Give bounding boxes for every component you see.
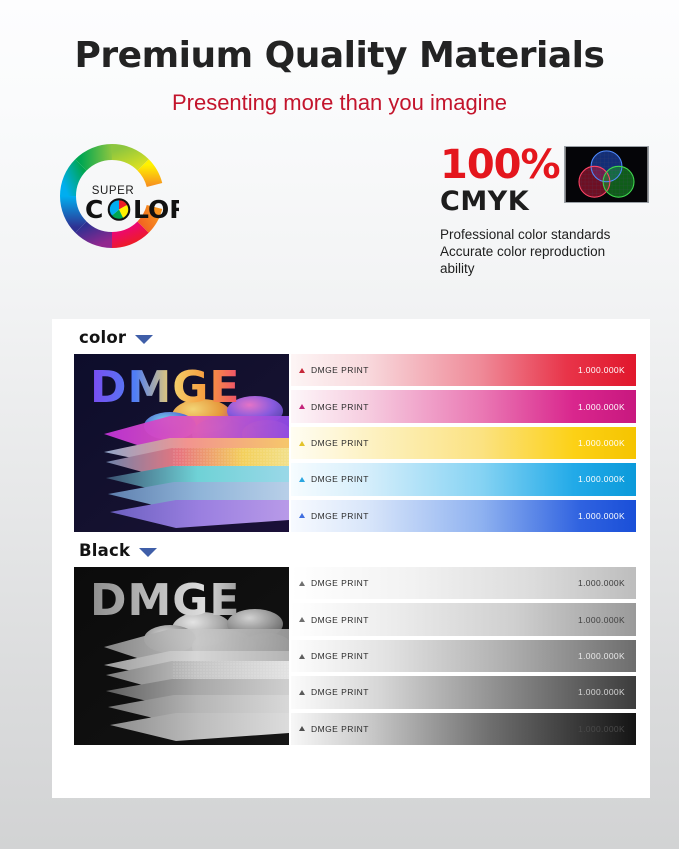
bar-label: DMGE PRINT [311, 578, 369, 588]
svg-text:LOR: LOR [133, 195, 179, 224]
bar-value: 1.000.000K [578, 365, 625, 375]
black-bar-list: DMGE PRINT 1.000.000K DMGE PRINT 1.000.0… [289, 567, 636, 745]
black-bar-2[interactable]: DMGE PRINT 1.000.000K [291, 603, 636, 635]
dmge-black-illustration: DMGE [74, 567, 289, 745]
cmyk-description: Professional color standards Accurate co… [440, 226, 650, 278]
dmge-color-artwork: DMGE [74, 354, 289, 532]
section-header-black[interactable]: Black [52, 532, 650, 567]
bar-value: 1.000.000K [578, 687, 625, 697]
bar-value: 1.000.000K [578, 511, 625, 521]
bar-label: DMGE PRINT [311, 687, 369, 697]
super-color-logo: SUPER C LOR [57, 144, 179, 254]
triangle-marker-icon [299, 477, 305, 482]
bar-value: 1.000.000K [578, 402, 625, 412]
samples-card: color [52, 319, 650, 798]
cmyk-description-line-3: ability [440, 260, 650, 277]
dmge-black-wordmark: DMGE [90, 575, 240, 626]
black-bar-1[interactable]: DMGE PRINT 1.000.000K [291, 567, 636, 599]
bar-value: 1.000.000K [578, 438, 625, 448]
bar-label: DMGE PRINT [311, 438, 369, 448]
triangle-marker-icon [299, 617, 305, 622]
bar-left-yellow: DMGE PRINT [299, 438, 369, 448]
svg-text:C: C [85, 195, 103, 224]
triangle-marker-icon [299, 513, 305, 518]
chevron-down-icon[interactable] [139, 548, 157, 557]
color-bar-cyan[interactable]: DMGE PRINT 1.000.000K [291, 463, 636, 495]
bar-label: DMGE PRINT [311, 365, 369, 375]
bar-value: 1.000.000K [578, 724, 625, 734]
rgb-circles-swatch [564, 146, 649, 203]
cmyk-label: CMYK [440, 186, 552, 217]
color-bar-yellow[interactable]: DMGE PRINT 1.000.000K [291, 427, 636, 459]
bar-left-magenta: DMGE PRINT [299, 402, 369, 412]
triangle-marker-icon [299, 581, 305, 586]
section-black: Black [52, 532, 650, 745]
dmge-black-artwork: DMGE [74, 567, 289, 745]
color-bar-red[interactable]: DMGE PRINT 1.000.000K [291, 354, 636, 386]
panel-color: DMGE DMGE PRINT 1.000.000K DMGE PRINT [74, 354, 636, 532]
section-header-color[interactable]: color [52, 319, 650, 354]
triangle-marker-icon [299, 654, 305, 659]
panel-black: DMGE DMGE PRINT 1.000.000K DMGE PRINT [74, 567, 636, 745]
dmge-color-wordmark: DMGE [90, 362, 240, 413]
color-wheel-icon: SUPER C LOR [57, 144, 179, 254]
feature-strip: SUPER C LOR 100% CMYK [0, 138, 679, 288]
triangle-marker-icon [299, 441, 305, 446]
logo-color-text: C LOR [85, 195, 179, 224]
dmge-color-illustration: DMGE [74, 354, 289, 532]
triangle-marker-icon [299, 404, 305, 409]
chevron-down-icon[interactable] [135, 335, 153, 344]
cmyk-percent: 100% [440, 146, 552, 184]
bar-label: DMGE PRINT [311, 651, 369, 661]
page-header: Premium Quality Materials Presenting mor… [0, 0, 679, 116]
bar-value: 1.000.000K [578, 651, 625, 661]
color-bar-list: DMGE PRINT 1.000.000K DMGE PRINT 1.000.0… [289, 354, 636, 532]
cmyk-description-line-2: Accurate color reproduction [440, 243, 650, 260]
cmyk-description-line-1: Professional color standards [440, 226, 650, 243]
black-bar-5[interactable]: DMGE PRINT 1.000.000K [291, 713, 636, 745]
bar-left-blue: DMGE PRINT [299, 511, 369, 521]
section-label-color: color [79, 328, 126, 347]
bar-value: 1.000.000K [578, 578, 625, 588]
bar-label: DMGE PRINT [311, 402, 369, 412]
bar-value: 1.000.000K [578, 474, 625, 484]
triangle-marker-icon [299, 690, 305, 695]
bar-left-5: DMGE PRINT [299, 724, 369, 734]
section-color: color [52, 319, 650, 532]
bar-left-2: DMGE PRINT [299, 615, 369, 625]
bar-left-3: DMGE PRINT [299, 651, 369, 661]
section-label-black: Black [79, 541, 130, 560]
color-bar-magenta[interactable]: DMGE PRINT 1.000.000K [291, 390, 636, 422]
bar-left-red: DMGE PRINT [299, 365, 369, 375]
bar-value: 1.000.000K [578, 615, 625, 625]
bar-label: DMGE PRINT [311, 724, 369, 734]
bar-label: DMGE PRINT [311, 615, 369, 625]
triangle-marker-icon [299, 726, 305, 731]
bar-left-cyan: DMGE PRINT [299, 474, 369, 484]
cmyk-feature: 100% CMYK [440, 146, 650, 278]
bar-label: DMGE PRINT [311, 511, 369, 521]
rgb-circles-icon [565, 147, 648, 202]
black-bar-4[interactable]: DMGE PRINT 1.000.000K [291, 676, 636, 708]
triangle-marker-icon [299, 368, 305, 373]
bar-left-4: DMGE PRINT [299, 687, 369, 697]
black-bar-3[interactable]: DMGE PRINT 1.000.000K [291, 640, 636, 672]
color-bar-blue[interactable]: DMGE PRINT 1.000.000K [291, 500, 636, 532]
bar-left-1: DMGE PRINT [299, 578, 369, 588]
page-title: Premium Quality Materials [0, 36, 679, 76]
page-subtitle: Presenting more than you imagine [0, 90, 679, 116]
bar-label: DMGE PRINT [311, 474, 369, 484]
